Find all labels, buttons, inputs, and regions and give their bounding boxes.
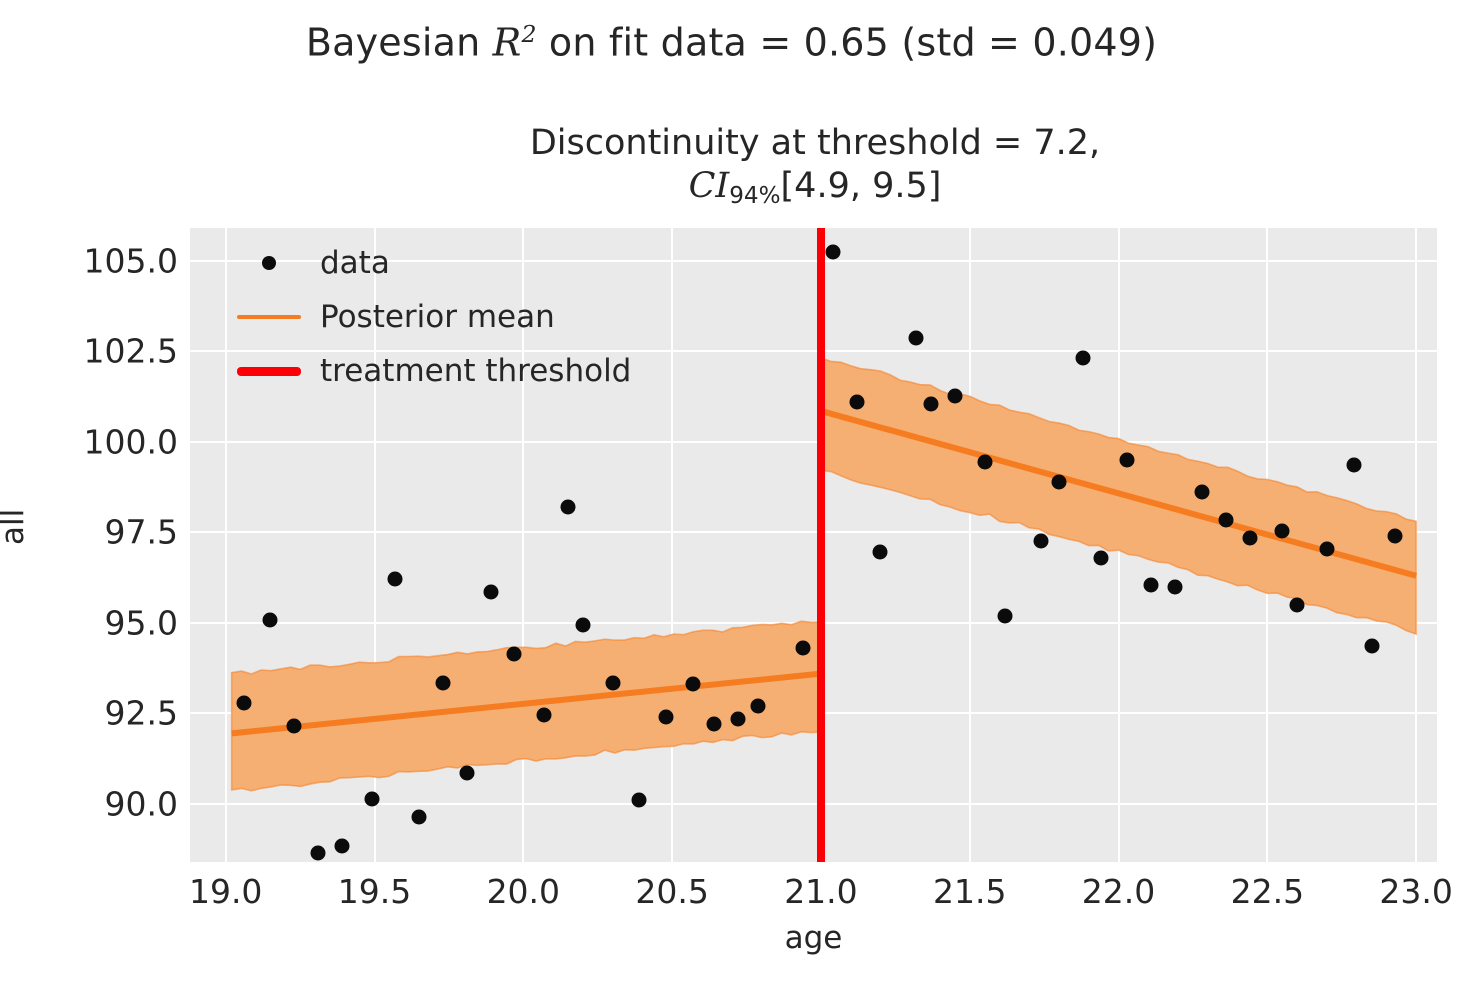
ci-symbol: CI [689,166,730,206]
ci-interval: [4.9, 9.5] [781,166,942,206]
data-point [1275,523,1290,538]
suptitle-prefix: Bayesian [306,21,493,65]
data-point [1052,474,1067,489]
data-point [575,617,590,632]
y-tick-label: 100.0 [18,422,178,461]
axes-title: Discontinuity at threshold = 7.2, CI94%[… [190,122,1440,207]
data-point [287,719,302,734]
data-point [1346,458,1361,473]
data-point [909,331,924,346]
treatment-threshold-line [817,228,825,862]
y-tick-label: 105.0 [18,241,178,280]
data-point [924,396,939,411]
x-tick-label: 19.0 [146,872,306,911]
data-point [730,711,745,726]
data-point [1075,351,1090,366]
data-point [1144,577,1159,592]
y-tick-label: 90.0 [18,785,178,824]
legend: dataPosterior meantreatment threshold [232,246,631,388]
x-tick-label: 20.5 [592,872,752,911]
suptitle-suffix: on fit data = 0.65 (std = 0.049) [537,21,1158,65]
y-tick-label: 102.5 [18,332,178,371]
legend-key-0 [232,256,306,270]
data-point [751,699,766,714]
data-point [706,717,721,732]
x-tick-label: 21.0 [741,872,901,911]
data-point [947,389,962,404]
data-point [873,545,888,560]
data-point [659,710,674,725]
data-point [632,793,647,808]
data-point [388,571,403,586]
legend-label: Posterior mean [320,299,555,335]
legend-item-posterior-mean[interactable]: Posterior mean [232,300,631,334]
axes-title-line1: Discontinuity at threshold = 7.2, [530,123,1100,163]
data-point [236,695,251,710]
legend-label: treatment threshold [320,353,631,389]
data-point [1364,639,1379,654]
legend-key-1 [232,315,306,319]
y-tick-label: 92.5 [18,694,178,733]
data-point [1388,528,1403,543]
data-point [483,585,498,600]
data-point [796,641,811,656]
data-point [1319,541,1334,556]
suptitle-exponent: 2 [521,20,536,48]
data-point [825,244,840,259]
x-tick-label: 23.0 [1336,872,1463,911]
data-point [459,766,474,781]
legend-line-icon [237,315,301,319]
data-point [364,791,379,806]
figure-suptitle: Bayesian R2 on fit data = 0.65 (std = 0.… [0,20,1463,65]
data-point [537,708,552,723]
data-point [1194,485,1209,500]
y-tick-label: 97.5 [18,513,178,552]
data-point [1290,597,1305,612]
data-point [334,838,349,853]
legend-key-2 [232,367,306,376]
x-tick-label: 22.5 [1187,872,1347,911]
data-point [1120,452,1135,467]
data-point [605,675,620,690]
x-axis-label: age [190,920,1437,956]
legend-item-data[interactable]: data [232,246,631,280]
data-point [1218,512,1233,527]
x-tick-label: 20.0 [443,872,603,911]
legend-item-treatment-threshold[interactable]: treatment threshold [232,354,631,388]
data-point [507,646,522,661]
ci-level: 94% [729,183,780,209]
data-point [310,845,325,860]
x-tick-label: 21.5 [890,872,1050,911]
data-point [1034,534,1049,549]
y-tick-label: 95.0 [18,603,178,642]
figure-canvas: Bayesian R2 on fit data = 0.65 (std = 0.… [0,0,1463,983]
data-point [435,675,450,690]
data-point [849,394,864,409]
x-tick-label: 19.5 [295,872,455,911]
legend-label: data [320,245,390,281]
data-point [560,499,575,514]
legend-marker-dot-icon [262,256,276,270]
suptitle-r-symbol: R [493,21,522,65]
data-point [1093,550,1108,565]
data-point [1168,579,1183,594]
data-point [1242,530,1257,545]
data-point [263,612,278,627]
data-point [412,809,427,824]
legend-threshold-line-icon [237,367,301,376]
data-point [685,677,700,692]
data-point [998,609,1013,624]
x-tick-label: 22.0 [1039,872,1199,911]
data-point [977,454,992,469]
plot-area: dataPosterior meantreatment threshold [190,228,1437,862]
